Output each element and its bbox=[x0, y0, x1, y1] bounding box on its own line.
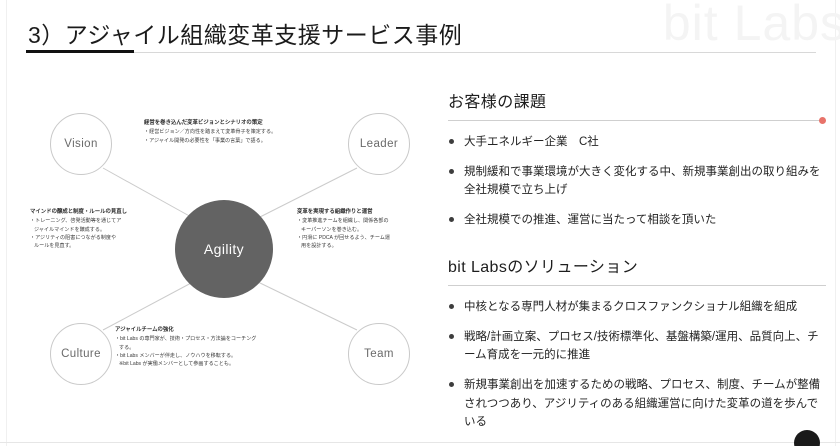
annotation-mindset: マインドの醸成と制度・ルールの見直し ・トレーニング、啓発活動等を通じてア ジャ… bbox=[30, 208, 158, 250]
slide-title: 3）アジャイル組織変革支援サービス事例 bbox=[28, 16, 462, 50]
panel-solution-bullets: 中核となる専門人材が集まるクロスファンクショナル組織を組成 戦略/計画立案、プロ… bbox=[448, 298, 826, 432]
annotation-team-heading: アジャイルチームの強化 bbox=[115, 326, 305, 334]
title-divider bbox=[26, 52, 816, 53]
annotation-organization-line: キーパーソンを巻き込む。 bbox=[297, 226, 442, 234]
annotation-team-line: ※bit Labs が実働メンバーとして参画することも。 bbox=[115, 360, 305, 368]
annotation-vision-line: ・アジャイル開発の必要性を「事業の言葉」で語る。 bbox=[144, 137, 324, 145]
panel-customer-challenge: お客様の課題 大手エネルギー企業 C社 規制緩和で事業環境が大きく変化する中、新… bbox=[448, 88, 826, 241]
annotation-mindset-line: ・アジリティの阻害につながる制度や bbox=[30, 234, 158, 242]
annotation-organization: 変革を実現する組織作りと運営 ・変革推進チームを組織し、関係各部の キーパーソン… bbox=[297, 208, 442, 250]
annotation-team-line: ・bit Labs メンバーが伴走し、ノウハウを移転する。 bbox=[115, 352, 305, 360]
title-divider-accent bbox=[26, 50, 134, 53]
panel-solution-divider bbox=[448, 285, 826, 286]
panel-bit-labs-solution: bit Labsのソリューション 中核となる専門人材が集まるクロスファンクショナ… bbox=[448, 253, 826, 443]
annotation-organization-heading: 変革を実現する組織作りと運営 bbox=[297, 208, 442, 216]
slide-canvas: bit Labs 3）アジャイル組織変革支援サービス事例 Vision Lead… bbox=[0, 0, 840, 446]
bit-labs-watermark: bit Labs bbox=[663, 0, 840, 52]
panel-challenge-bullets: 大手エネルギー企業 C社 規制緩和で事業環境が大きく変化する中、新規事業創出の取… bbox=[448, 133, 826, 230]
list-item: 規制緩和で事業環境が大きく変化する中、新規事業創出の取り組みを全社規模で立ち上げ bbox=[448, 163, 826, 200]
page-edge-left bbox=[6, 0, 7, 446]
annotation-team-line: する。 bbox=[115, 344, 305, 352]
annotation-vision-heading: 経営を巻き込んだ変革ビジョンとシナリオの策定 bbox=[144, 119, 324, 127]
diagram-node-leader: Leader bbox=[348, 113, 410, 175]
diagram-node-agility: Agility bbox=[175, 200, 273, 298]
diagram-node-vision: Vision bbox=[50, 113, 112, 175]
annotation-mindset-line: ジャイルマインドを醸成する。 bbox=[30, 226, 158, 234]
list-item: 新規事業創出を加速するための戦略、プロセス、制度、チームが整備されつつあり、アジ… bbox=[448, 376, 826, 432]
list-item: 全社規模での推進、運営に当たって相談を頂いた bbox=[448, 211, 826, 230]
annotation-team: アジャイルチームの強化 ・bit Labs の専門家が、技術・プロセス・方法論を… bbox=[115, 326, 305, 368]
diagram-node-agility-label: Agility bbox=[204, 241, 244, 257]
diagram-node-vision-label: Vision bbox=[64, 138, 98, 150]
annotation-vision: 経営を巻き込んだ変革ビジョンとシナリオの策定 ・経営ビジョン／方向性を踏まえて変… bbox=[144, 119, 324, 145]
annotation-organization-line: ・変革推進チームを組織し、関係各部の bbox=[297, 217, 442, 225]
annotation-vision-line: ・経営ビジョン／方向性を踏まえて変革骨子を策定する。 bbox=[144, 128, 324, 136]
page-edge-right bbox=[835, 0, 836, 446]
diagram-node-team-label: Team bbox=[364, 348, 394, 360]
diagram-node-culture-label: Culture bbox=[61, 348, 101, 360]
list-item: 中核となる専門人材が集まるクロスファンクショナル組織を組成 bbox=[448, 298, 826, 317]
list-item: 戦略/計画立案、プロセス/技術標準化、基盤構築/運用、品質向上、チーム育成を一元… bbox=[448, 328, 826, 365]
annotation-organization-line: 用を設計する。 bbox=[297, 242, 442, 250]
annotation-mindset-line: ルールを見直す。 bbox=[30, 242, 158, 250]
list-item: 大手エネルギー企業 C社 bbox=[448, 133, 826, 152]
panel-challenge-divider bbox=[448, 120, 826, 121]
annotation-organization-line: ・円滑に PDCA が回せるよう、チーム運 bbox=[297, 234, 442, 242]
annotation-mindset-heading: マインドの醸成と制度・ルールの見直し bbox=[30, 208, 158, 216]
panel-challenge-heading: お客様の課題 bbox=[448, 88, 826, 112]
diagram-node-culture: Culture bbox=[50, 323, 112, 385]
diagram-node-leader-label: Leader bbox=[360, 138, 398, 150]
accent-dot-icon bbox=[819, 117, 826, 124]
annotation-team-line: ・bit Labs の専門家が、技術・プロセス・方法論をコーチング bbox=[115, 335, 305, 343]
agility-diagram: Vision Leader Culture Team Agility 経営を巻き… bbox=[18, 86, 438, 416]
annotation-mindset-line: ・トレーニング、啓発活動等を通じてア bbox=[30, 217, 158, 225]
diagram-node-team: Team bbox=[348, 323, 410, 385]
panel-solution-heading: bit Labsのソリューション bbox=[448, 253, 826, 277]
